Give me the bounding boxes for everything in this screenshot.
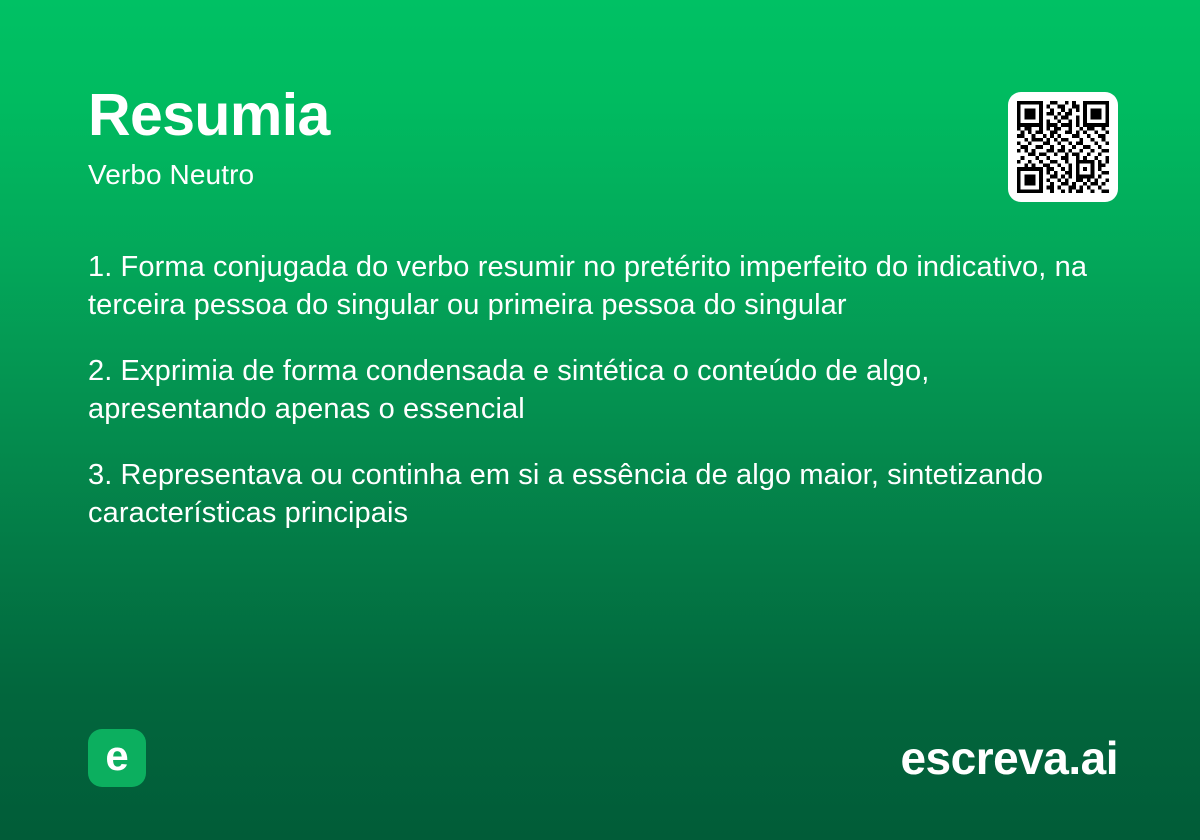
card-header: Resumia Verbo Neutro bbox=[88, 86, 1112, 191]
dictionary-card: Resumia Verbo Neutro bbox=[0, 0, 1200, 840]
definition-item: 2. Exprimia de forma condensada e sintét… bbox=[88, 352, 1093, 428]
word-class-subtitle: Verbo Neutro bbox=[88, 145, 1112, 191]
page-title: Resumia bbox=[88, 86, 1112, 145]
brand-wordmark: escreva.ai bbox=[900, 735, 1118, 781]
definition-item: 3. Representava ou continha em si a essê… bbox=[88, 456, 1093, 532]
escreva-logo-icon: e bbox=[88, 729, 146, 787]
definitions-list: 1. Forma conjugada do verbo resumir no p… bbox=[88, 248, 1093, 532]
qr-code-icon[interactable] bbox=[1008, 92, 1118, 202]
card-footer: e escreva.ai bbox=[88, 728, 1118, 788]
definition-item: 1. Forma conjugada do verbo resumir no p… bbox=[88, 248, 1093, 324]
